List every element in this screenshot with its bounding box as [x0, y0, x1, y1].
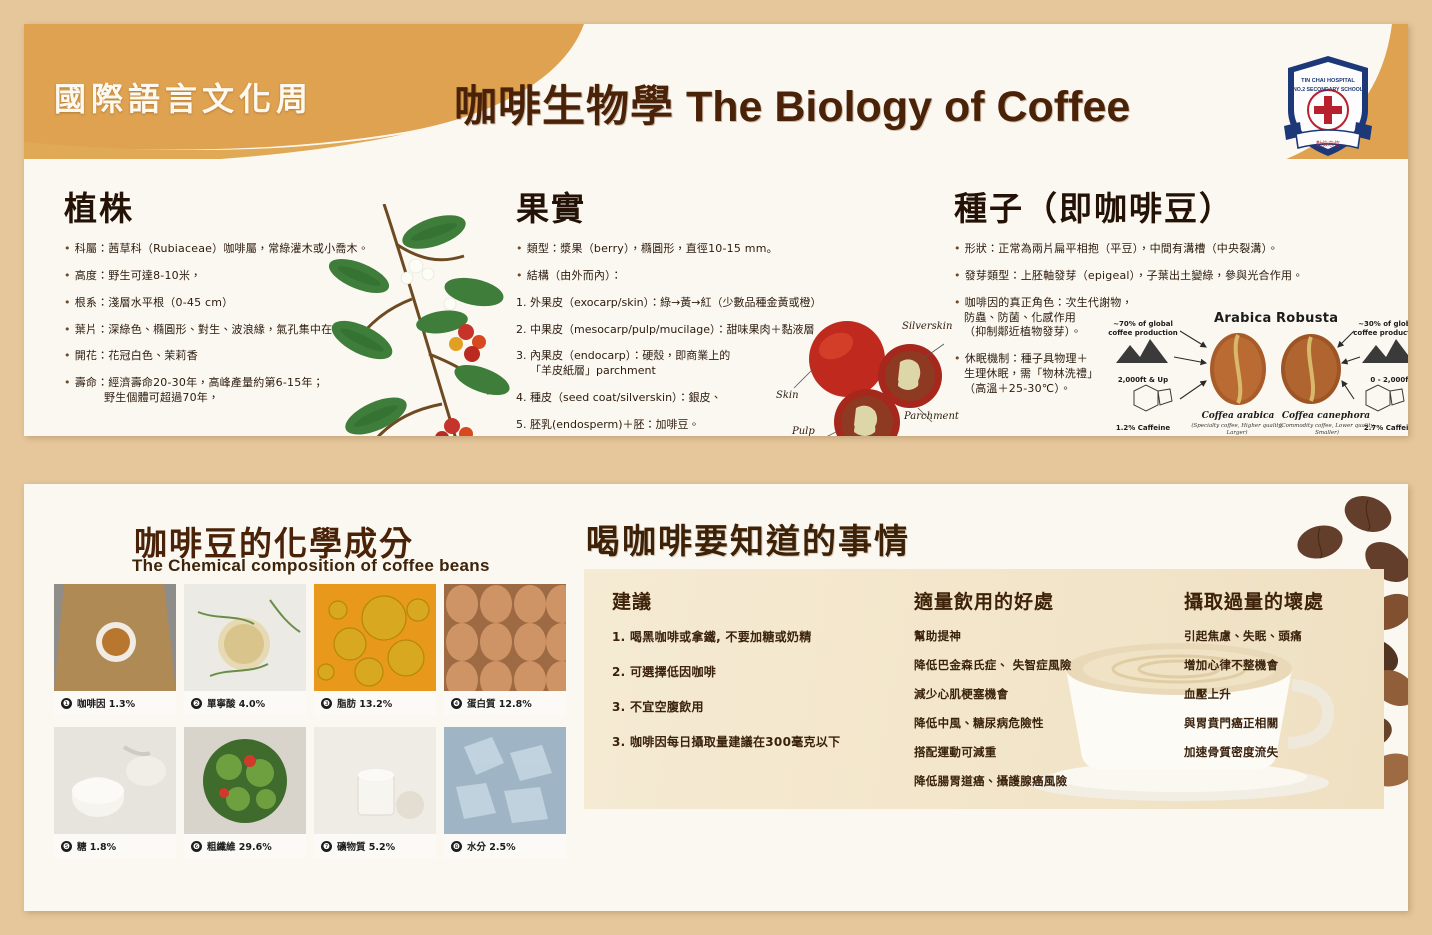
drinking-advice-card: 建議 1. 喝黑咖啡或拿鐵, 不要加糖或奶精 2. 可選擇低因咖啡 3. 不宜空…	[584, 569, 1384, 809]
list-item: •結構（由外而內）：	[516, 269, 886, 284]
cherry-label-skin: Skin	[776, 390, 799, 401]
svg-text:NO.2 SECONDARY SCHOOL: NO.2 SECONDARY SCHOOL	[1293, 87, 1364, 93]
composition-item-water[interactable]: ❽ 水分 2.5%	[444, 727, 566, 858]
badge-number: ❺	[61, 841, 72, 852]
glass-cup-photo	[314, 727, 436, 834]
fruit-bullet-list: •類型：漿果（berry），橢圓形，直徑10-15 mm。 •結構（由外而內）：	[516, 242, 886, 284]
thumbnail-row-2: ❺ 糖 1.8% ❻ 粗纖維 29.6%	[54, 727, 574, 858]
caption: ❶ 咖啡因 1.3%	[54, 691, 176, 715]
fruit-bullet-text: 類型：漿果（berry），橢圓形，直徑10-15 mm。	[527, 242, 778, 255]
chemical-composition-grid: ❶ 咖啡因 1.3% ❷ 單寧酸 4.0%	[54, 584, 574, 870]
seed-dormancy-line1: 休眠機制：種子具物理＋	[965, 352, 1088, 365]
badge-number: ❻	[191, 841, 202, 852]
plant-bullet-text: 葉片：深綠色、橢圓形、對生、波浪緣，氣孔集中在葉背，	[75, 323, 366, 336]
composition-item-minerals[interactable]: ❼ 礦物質 5.2%	[314, 727, 436, 858]
caption-label: 蛋白質 12.8%	[467, 696, 532, 710]
svg-text:勤儉忠信: 勤儉忠信	[1316, 140, 1340, 148]
plant-lifespan-text: 壽命：經濟壽命20-30年，高峰產量約第6-15年；	[75, 376, 324, 389]
list-item: •形狀：正常為兩片扁平相抱（平豆），中間有溝槽（中央裂溝）。	[954, 242, 1314, 257]
caption-label: 單寧酸 4.0%	[207, 696, 265, 710]
plant-bullet-text: 高度：野生可達8-10米，	[75, 269, 202, 282]
caption-label: 咖啡因 1.3%	[77, 696, 135, 710]
poster-root: 國際語言文化周 咖啡生物學 The Biology of Coffee TIN …	[0, 0, 1432, 935]
coffee-plant-illustration	[324, 204, 514, 436]
list-item: 3. 不宜空腹飲用	[612, 698, 912, 715]
list-item: 降低中風、糖尿病危險性	[914, 715, 1179, 731]
page-title-en: The Biology of Coffee	[686, 83, 1130, 131]
composition-item-protein[interactable]: ❹ 蛋白質 12.8%	[444, 584, 566, 715]
harms-heading: 攝取過量的壞處	[1184, 587, 1384, 614]
oil-bubbles-photo	[314, 584, 436, 691]
list-item: 2. 可選擇低因咖啡	[612, 663, 912, 680]
cherry-label-silverskin: Silverskin	[902, 321, 952, 332]
badge-number: ❶	[61, 698, 72, 709]
composition-item-caffeine[interactable]: ❶ 咖啡因 1.3%	[54, 584, 176, 715]
badge-number: ❽	[451, 841, 462, 852]
fruit-layer-text: 3. 內果皮（endocarp）：硬殼，即商業上的	[516, 349, 730, 362]
bottom-panel: 咖啡豆的化學成分 The Chemical composition of cof…	[24, 484, 1408, 911]
caption: ❼ 礦物質 5.2%	[314, 834, 436, 858]
robusta-altitude: 0 - 2,000ft	[1352, 376, 1408, 385]
harms-list: 引起焦慮、失眠、頭痛 增加心律不整機會 血壓上升 與胃賁門癌正相關 加速骨質密度…	[1184, 628, 1384, 760]
benefits-heading: 適量飲用的好處	[914, 587, 1179, 614]
robusta-name: Robusta	[1276, 311, 1338, 326]
robusta-notes: (Commodity coffee, Lower quality, Smalle…	[1272, 423, 1382, 436]
caption: ❸ 脂肪 13.2%	[314, 691, 436, 715]
espresso-photo	[54, 584, 176, 691]
cherry-label-parchment: Parchment	[904, 411, 959, 422]
advice-list: 1. 喝黑咖啡或拿鐵, 不要加糖或奶精 2. 可選擇低因咖啡 3. 不宜空腹飲用…	[612, 628, 912, 750]
list-item: 血壓上升	[1184, 686, 1384, 702]
composition-item-crude-fiber[interactable]: ❻ 粗纖維 29.6%	[184, 727, 306, 858]
robusta-species: Coffea canephora	[1270, 411, 1382, 421]
drinking-coffee-title: 喝咖啡要知道的事情	[586, 514, 910, 563]
caption: ❷ 單寧酸 4.0%	[184, 691, 306, 715]
caption: ❹ 蛋白質 12.8%	[444, 691, 566, 715]
list-item: 減少心肌梗塞機會	[914, 686, 1179, 702]
arabica-name: Arabica	[1214, 311, 1272, 326]
cherry-label-pulp: Pulp	[792, 426, 815, 436]
composition-item-sugar[interactable]: ❺ 糖 1.8%	[54, 727, 176, 858]
thumbnail-row-1: ❶ 咖啡因 1.3% ❷ 單寧酸 4.0%	[54, 584, 574, 715]
caption-label: 礦物質 5.2%	[337, 839, 395, 853]
badge-number: ❼	[321, 841, 332, 852]
section-fruit-heading: 果實	[516, 182, 886, 230]
list-item: 降低腸胃道癌、攝護腺癌風險	[914, 773, 1179, 789]
fruit-bullet-text: 結構（由外而內）：	[527, 269, 622, 282]
list-item: •發芽類型：上胚軸發芽（epigeal），子葉出土變綠，參與光合作用。	[954, 269, 1314, 284]
eggs-photo	[444, 584, 566, 691]
robusta-production: ~30% of global coffee production	[1346, 320, 1408, 338]
list-item: 3. 咖啡因每日攝取量建議在300毫克以下	[612, 733, 912, 750]
svg-text:TIN CHAI HOSPITAL: TIN CHAI HOSPITAL	[1301, 78, 1355, 84]
arabica-caffeine: 1.2% Caffeine	[1104, 424, 1182, 433]
list-item: 引起焦慮、失眠、頭痛	[1184, 628, 1384, 644]
plant-bullet-text: 開花：花冠白色、茉莉香	[75, 349, 198, 362]
list-item: •類型：漿果（berry），橢圓形，直徑10-15 mm。	[516, 242, 886, 257]
herbal-tea-photo	[184, 584, 306, 691]
arabica-production: ~70% of global coffee production	[1102, 320, 1184, 338]
plant-bullet-text: 根系：淺層水平根（0-45 cm）	[75, 296, 234, 309]
badge-number: ❸	[321, 698, 332, 709]
composition-item-tannic-acid[interactable]: ❷ 單寧酸 4.0%	[184, 584, 306, 715]
seed-bullet-text: 形狀：正常為兩片扁平相抱（平豆），中間有溝槽（中央裂溝）。	[965, 242, 1279, 255]
sugar-bowls-photo	[54, 727, 176, 834]
list-item: 與胃賁門癌正相關	[1184, 715, 1384, 731]
caption-label: 糖 1.8%	[77, 839, 116, 853]
top-panel: 國際語言文化周 咖啡生物學 The Biology of Coffee TIN …	[24, 24, 1408, 436]
benefits-list: 幫助提神 降低巴金森氏症、 失智症風險 減少心肌梗塞機會 降低中風、糖尿病危險性…	[914, 628, 1179, 789]
caption: ❺ 糖 1.8%	[54, 834, 176, 858]
page-title-zh: 咖啡生物學	[454, 82, 674, 132]
salad-photo	[184, 727, 306, 834]
list-item: 1. 喝黑咖啡或拿鐵, 不要加糖或奶精	[612, 628, 912, 645]
seed-bullet-text: 發芽類型：上胚軸發芽（epigeal），子葉出土變綠，參與光合作用。	[965, 269, 1304, 282]
ice-water-photo	[444, 727, 566, 834]
caption-label: 粗纖維 29.6%	[207, 839, 272, 853]
list-item: 搭配運動可減重	[914, 744, 1179, 760]
list-item: 加速骨質密度流失	[1184, 744, 1384, 760]
week-title: 國際語言文化周	[54, 74, 313, 120]
caption: ❽ 水分 2.5%	[444, 834, 566, 858]
caption: ❻ 粗纖維 29.6%	[184, 834, 306, 858]
harms-column: 攝取過量的壞處 引起焦慮、失眠、頭痛 增加心律不整機會 血壓上升 與胃賁門癌正相…	[1184, 587, 1384, 773]
caption-label: 水分 2.5%	[467, 839, 516, 853]
caption-label: 脂肪 13.2%	[337, 696, 392, 710]
badge-number: ❹	[451, 698, 462, 709]
benefits-column: 適量飲用的好處 幫助提神 降低巴金森氏症、 失智症風險 減少心肌梗塞機會 降低中…	[914, 587, 1179, 802]
section-seed-heading: 種子（即咖啡豆）	[954, 182, 1314, 230]
arabica-altitude: 2,000ft & Up	[1104, 376, 1182, 385]
advice-column: 建議 1. 喝黑咖啡或拿鐵, 不要加糖或奶精 2. 可選擇低因咖啡 3. 不宜空…	[612, 587, 912, 768]
list-item: 降低巴金森氏症、 失智症風險	[914, 657, 1179, 673]
page-title: 咖啡生物學 The Biology of Coffee	[454, 72, 1130, 134]
school-crest-logo: TIN CHAI HOSPITAL NO.2 SECONDARY SCHOOL …	[1280, 52, 1376, 162]
composition-item-fat[interactable]: ❸ 脂肪 13.2%	[314, 584, 436, 715]
list-item: 幫助提神	[914, 628, 1179, 644]
list-item: 增加心律不整機會	[1184, 657, 1384, 673]
advice-heading: 建議	[612, 587, 912, 614]
chemical-composition-title-en: The Chemical composition of coffee beans	[132, 556, 490, 576]
badge-number: ❷	[191, 698, 202, 709]
